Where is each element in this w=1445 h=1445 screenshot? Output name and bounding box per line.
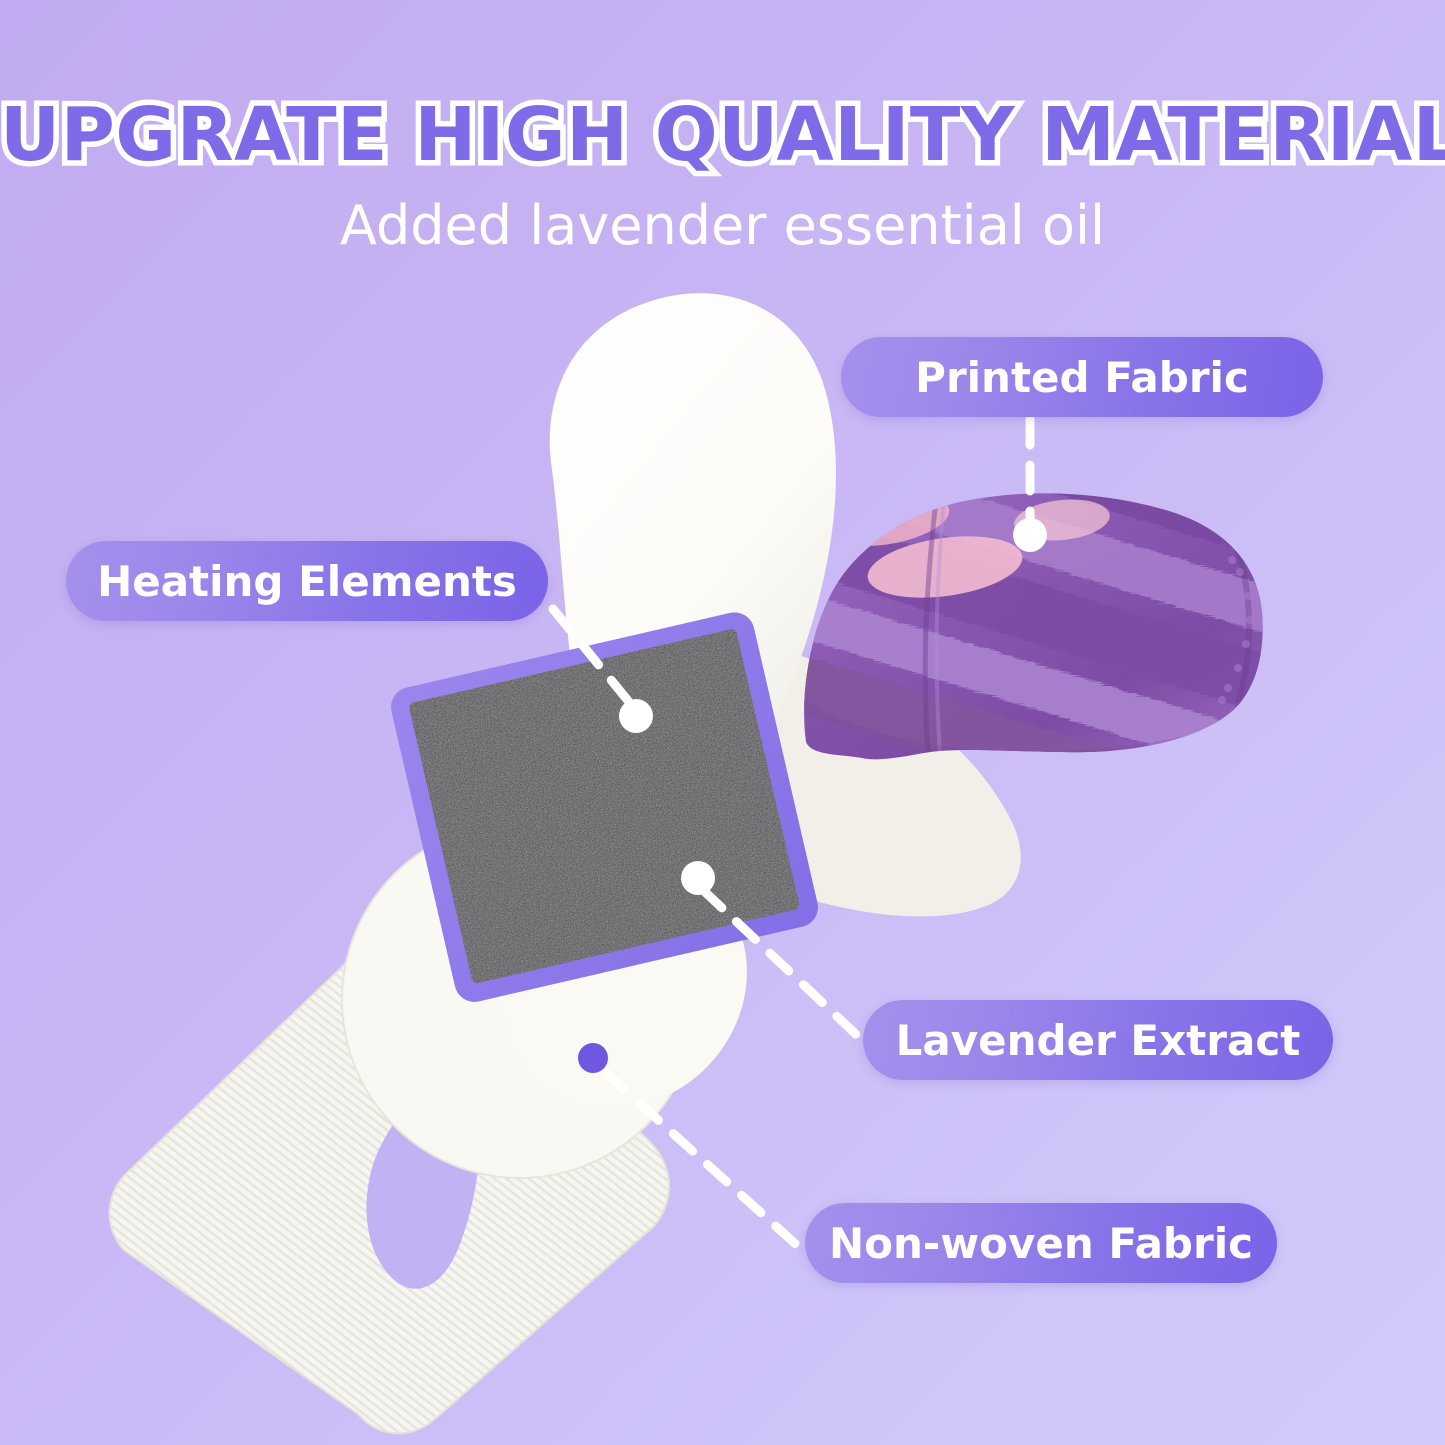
- callout-heating-elements: Heating Elements: [66, 541, 548, 621]
- callout-printed-fabric: Printed Fabric: [841, 337, 1323, 417]
- callout-lavender-extract: Lavender Extract: [863, 1000, 1333, 1080]
- product-infographic: UPGRATE HIGH QUALITY MATERIAL Added lave…: [0, 0, 1445, 1445]
- callout-non-woven-fabric: Non-woven Fabric: [805, 1203, 1277, 1283]
- heating-element-layer: [387, 608, 822, 1005]
